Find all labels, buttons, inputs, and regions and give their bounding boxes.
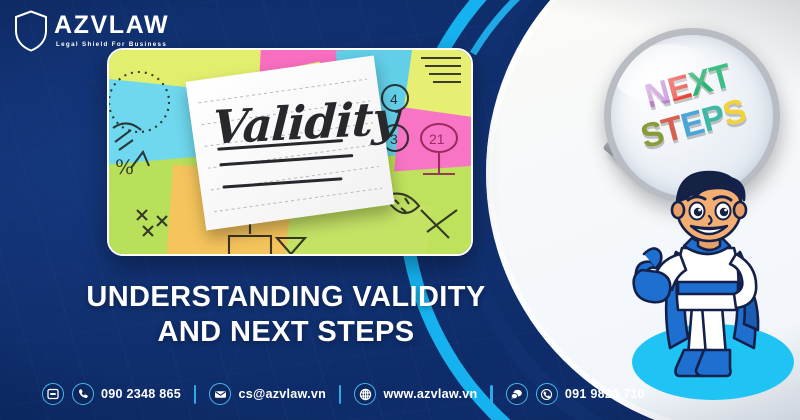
brand-logo[interactable]: AZVLAW Legal Shield For Business <box>14 10 169 52</box>
mascot-illustration <box>618 166 796 398</box>
whatsapp-icon <box>536 383 558 405</box>
website-url: www.azvlaw.vn <box>383 387 477 401</box>
fax-icon <box>42 383 64 405</box>
phone-icon <box>72 383 94 405</box>
contact-whatsapp[interactable]: 091 9820 710 <box>536 383 645 405</box>
contact-fax[interactable] <box>42 383 64 405</box>
logo-wordmark: AZVLAW <box>54 13 169 38</box>
contact-zalo[interactable] <box>506 383 528 405</box>
contact-website[interactable]: www.azvlaw.vn <box>354 383 477 405</box>
logo-tagline: Legal Shield For Business <box>54 42 169 48</box>
title-line-1: UNDERSTANDING VALIDITY <box>36 280 536 315</box>
footer-divider <box>490 385 492 404</box>
hero-photo-card: % 4 3 21 <box>107 48 473 256</box>
zalo-icon <box>506 383 528 405</box>
azvlaw-promo-banner: AZVLAW Legal Shield For Business % <box>0 0 800 420</box>
globe-icon <box>354 383 376 405</box>
contact-footer-bar: 090 2348 865 cs@azvlaw.vn www.azvla <box>0 368 800 420</box>
phone-number: 090 2348 865 <box>101 387 181 401</box>
contact-phone[interactable]: 090 2348 865 <box>72 383 181 405</box>
footer-divider <box>339 385 341 404</box>
superhero-mascot <box>618 166 796 398</box>
title-line-2: AND NEXT STEPS <box>36 315 536 350</box>
email-icon <box>209 383 231 405</box>
svg-text:21: 21 <box>429 131 445 147</box>
footer-divider <box>194 385 196 404</box>
whatsapp-number: 091 9820 710 <box>565 387 645 401</box>
validity-note-card: Validity <box>185 56 394 231</box>
contact-email[interactable]: cs@azvlaw.vn <box>209 383 326 405</box>
email-address: cs@azvlaw.vn <box>238 387 326 401</box>
page-title: UNDERSTANDING VALIDITY AND NEXT STEPS <box>36 280 536 351</box>
sticky-notes-photo: % 4 3 21 <box>109 50 471 254</box>
validity-handwritten-word: Validity <box>211 91 399 155</box>
shield-icon <box>14 10 48 52</box>
